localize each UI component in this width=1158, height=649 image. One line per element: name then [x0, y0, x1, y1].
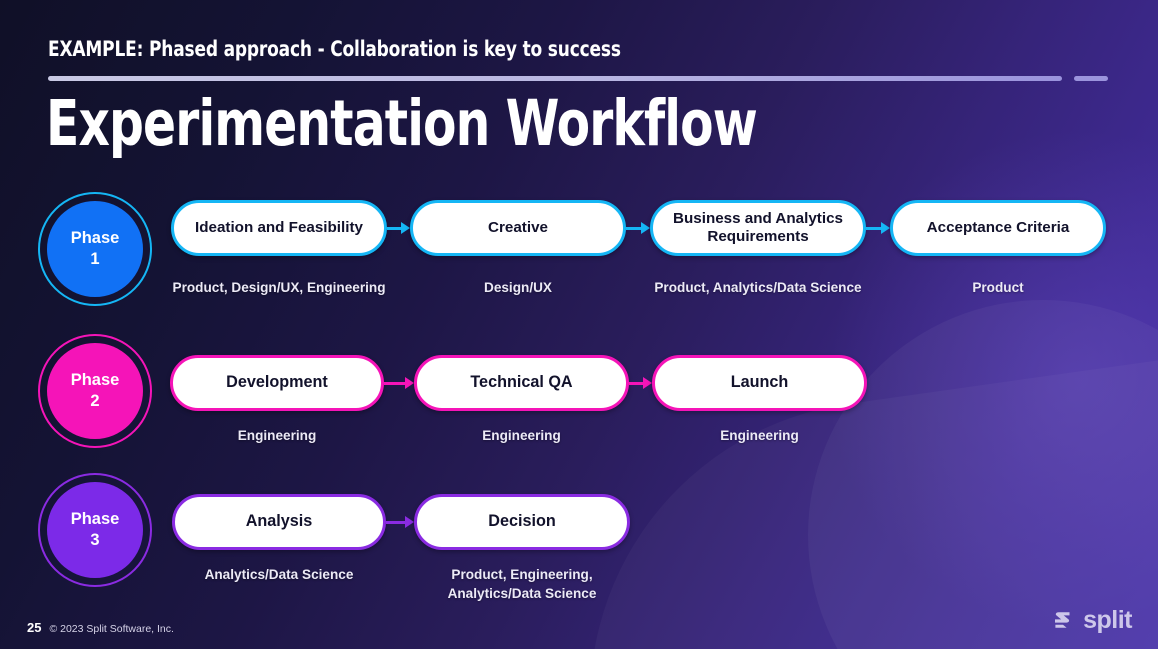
workflow-arrow-icon — [384, 377, 414, 389]
phase-badge-number: 2 — [90, 391, 99, 412]
workflow-step-caption: Analytics/Data Science — [172, 565, 386, 584]
phase-badge-core: Phase1 — [47, 201, 143, 297]
split-s-mark-icon — [1050, 607, 1076, 633]
workflow-step-pill[interactable]: Creative — [410, 200, 626, 256]
phase-badge-label: Phase — [71, 228, 120, 249]
workflow-step-pill[interactable]: Ideation and Feasibility — [171, 200, 387, 256]
arrow-shaft — [866, 227, 882, 230]
split-wordmark: split — [1083, 608, 1132, 633]
workflow-step-caption: Product, Design/UX, Engineering — [171, 278, 387, 297]
workflow-step-pill[interactable]: Business and Analytics Requirements — [650, 200, 866, 256]
workflow-step-caption: Engineering — [652, 426, 867, 445]
phase-badge-number: 3 — [90, 530, 99, 551]
phase-row-2: Phase2DevelopmentEngineeringTechnical QA… — [0, 334, 1158, 459]
arrow-head — [643, 377, 652, 389]
split-logo: split — [1050, 607, 1132, 633]
arrow-shaft — [386, 521, 406, 524]
page-number: 25 — [27, 620, 41, 635]
arrow-head — [405, 516, 414, 528]
header-divider-line — [48, 76, 1062, 81]
workflow-step-pill[interactable]: Launch — [652, 355, 867, 411]
phase-badge-1: Phase1 — [38, 192, 152, 306]
phase-badge-3: Phase3 — [38, 473, 152, 587]
arrow-head — [641, 222, 650, 234]
page-title: Experimentation Workflow — [46, 92, 757, 155]
arrow-head — [401, 222, 410, 234]
workflow-step-caption: Engineering — [414, 426, 629, 445]
workflow-step-pill[interactable]: Technical QA — [414, 355, 629, 411]
workflow-arrow-icon — [629, 377, 652, 389]
slide-eyebrow: EXAMPLE: Phased approach - Collaboration… — [48, 37, 621, 62]
workflow-arrow-icon — [386, 516, 414, 528]
workflow-step-pill[interactable]: Analysis — [172, 494, 386, 550]
workflow-step-pill[interactable]: Decision — [414, 494, 630, 550]
phase-badge-label: Phase — [71, 370, 120, 391]
workflow-arrow-icon — [866, 222, 890, 234]
phase-badge-label: Phase — [71, 509, 120, 530]
arrow-shaft — [626, 227, 642, 230]
phase-row-3: Phase3AnalysisAnalytics/Data ScienceDeci… — [0, 473, 1158, 603]
phase-row-1: Phase1Ideation and FeasibilityProduct, D… — [0, 190, 1158, 320]
workflow-step-caption: Design/UX — [410, 278, 626, 297]
arrow-shaft — [629, 382, 644, 385]
phase-badge-number: 1 — [90, 249, 99, 270]
workflow-step-caption: Engineering — [170, 426, 384, 445]
phase-badge-core: Phase3 — [47, 482, 143, 578]
footer: 25 © 2023 Split Software, Inc. — [27, 620, 174, 635]
workflow-step-pill[interactable]: Development — [170, 355, 384, 411]
slide-canvas: EXAMPLE: Phased approach - Collaboration… — [0, 0, 1158, 649]
workflow-step-pill[interactable]: Acceptance Criteria — [890, 200, 1106, 256]
arrow-head — [405, 377, 414, 389]
arrow-head — [881, 222, 890, 234]
arrow-shaft — [384, 382, 406, 385]
arrow-shaft — [387, 227, 402, 230]
workflow-arrow-icon — [387, 222, 410, 234]
copyright-text: © 2023 Split Software, Inc. — [49, 623, 173, 635]
header-divider-dash — [1074, 76, 1108, 81]
phase-badge-2: Phase2 — [38, 334, 152, 448]
workflow-step-caption: Product — [890, 278, 1106, 297]
workflow-step-caption: Product, Analytics/Data Science — [650, 278, 866, 297]
workflow-step-caption: Product, Engineering, Analytics/Data Sci… — [414, 565, 630, 604]
workflow-arrow-icon — [626, 222, 650, 234]
phase-badge-core: Phase2 — [47, 343, 143, 439]
